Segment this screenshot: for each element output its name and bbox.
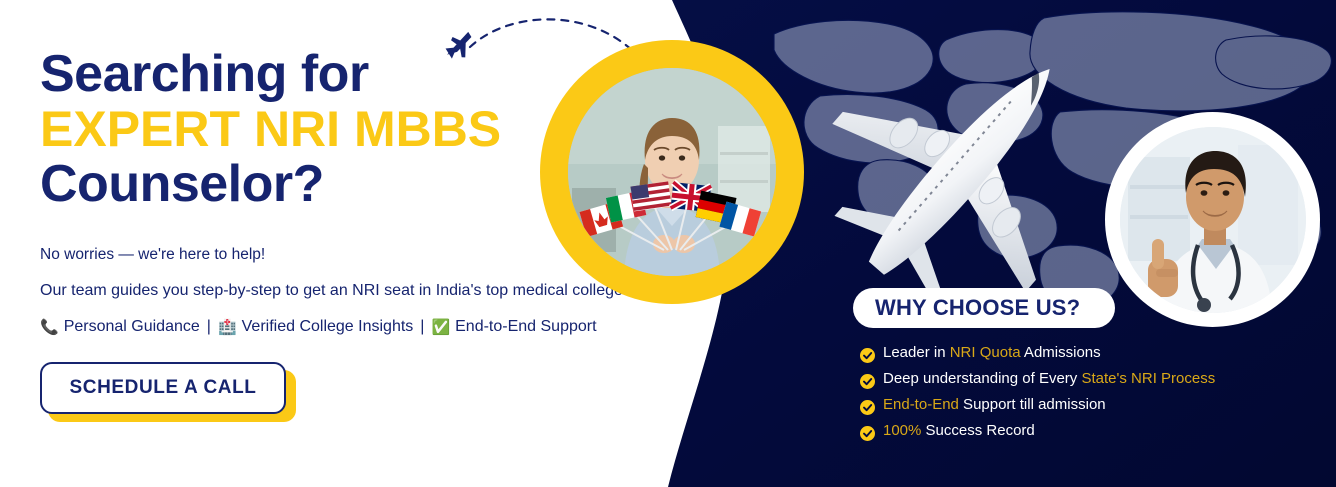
benefit-2-highlight: State's NRI Process (1081, 370, 1215, 387)
benefit-3-highlight: End-to-End (883, 396, 959, 413)
doctor-photo (1105, 112, 1320, 327)
benefit-item: Deep understanding of Every State's NRI … (860, 371, 1330, 389)
benefit-4-post: Success Record (921, 422, 1034, 439)
benefit-text: Deep understanding of Every State's NRI … (883, 371, 1215, 388)
subtitle-text: No worries — we're here to help! (40, 246, 650, 264)
benefits-list: Leader in NRI Quota Admissions Deep unde… (860, 345, 1330, 449)
feature-list: 📞 Personal Guidance | 🏥 Verified College… (40, 318, 650, 336)
feature-label-end-to-end-support: End-to-End Support (455, 318, 596, 336)
phone-icon: 📞 (40, 320, 59, 335)
schedule-a-call-button[interactable]: SCHEDULE A CALL (40, 362, 286, 414)
benefit-text: Leader in NRI Quota Admissions (883, 345, 1101, 362)
why-choose-us-banner: WHY CHOOSE US? (853, 288, 1115, 328)
benefit-item: End-to-End Support till admission (860, 397, 1330, 415)
hospital-icon: 🏥 (218, 320, 237, 335)
benefit-2-pre: Deep understanding of Every (883, 370, 1081, 387)
feature-label-personal-guidance: Personal Guidance (64, 318, 200, 336)
benefit-1-post: Admissions (1021, 344, 1101, 361)
benefit-1-highlight: NRI Quota (950, 344, 1021, 361)
check-circle-icon (860, 374, 875, 389)
feature-separator-2: | (420, 318, 424, 336)
benefit-1-pre: Leader in (883, 344, 950, 361)
headline-line-1: Searching for (40, 46, 650, 102)
description-text: Our team guides you step-by-step to get … (40, 282, 650, 300)
benefit-item: 100% Success Record (860, 423, 1330, 441)
check-circle-icon (860, 400, 875, 415)
feature-label-verified-college-insights: Verified College Insights (242, 318, 414, 336)
feature-separator-1: | (207, 318, 211, 336)
benefit-text: 100% Success Record (883, 423, 1035, 440)
check-circle-icon (860, 348, 875, 363)
why-choose-us-title: WHY CHOOSE US? (875, 295, 1080, 321)
check-circle-icon (860, 426, 875, 441)
nri-mbbs-counselor-banner: Searching for EXPERT NRI MBBS Counselor?… (0, 0, 1336, 487)
check-mark-icon: ✅ (431, 320, 450, 335)
benefit-4-highlight: 100% (883, 422, 921, 439)
woman-with-flags-photo (540, 40, 804, 304)
benefit-item: Leader in NRI Quota Admissions (860, 345, 1330, 363)
benefit-3-post: Support till admission (959, 396, 1106, 413)
cta-button-wrapper: SCHEDULE A CALL (40, 362, 288, 416)
benefit-text: End-to-End Support till admission (883, 397, 1106, 414)
